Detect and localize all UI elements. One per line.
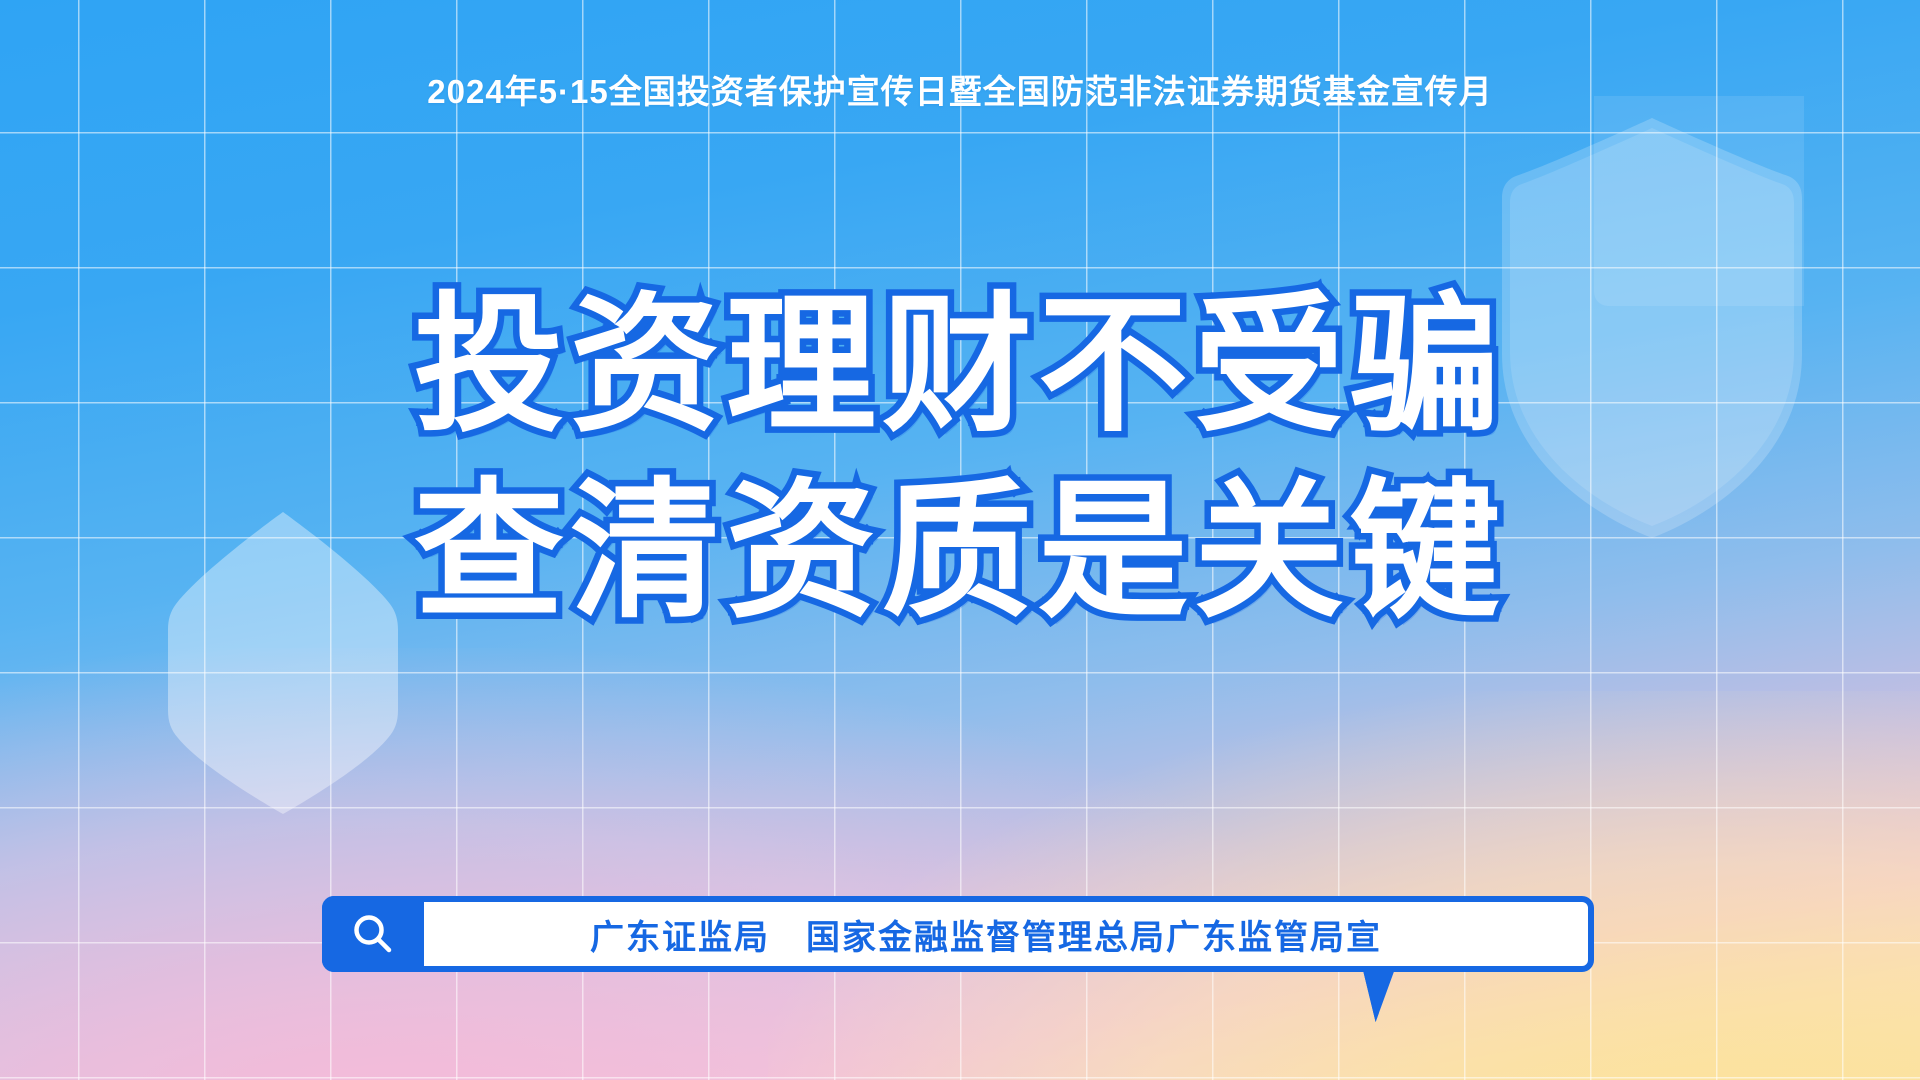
gradient-wash-pink bbox=[0, 648, 1440, 1080]
gradient-wash-yellow bbox=[768, 691, 1920, 1080]
headline-line-2: 查清资质是关键 bbox=[0, 458, 1920, 644]
speech-bubble-tail bbox=[1362, 966, 1396, 1022]
signature-text: 广东证监局 国家金融监督管理总局广东监管局宣 bbox=[328, 902, 1588, 966]
signature-bar: 广东证监局 国家金融监督管理总局广东监管局宣 bbox=[322, 896, 1594, 972]
signature-bar-wrapper: 广东证监局 国家金融监督管理总局广东监管局宣 bbox=[322, 896, 1594, 972]
headline-block: 投资理财不受骗 查清资质是关键 bbox=[0, 272, 1920, 644]
headline-line-1: 投资理财不受骗 bbox=[0, 272, 1920, 458]
search-icon[interactable] bbox=[322, 896, 424, 972]
page-title: 2024年5·15全国投资者保护宣传日暨全国防范非法证券期货基金宣传月 bbox=[0, 72, 1920, 112]
poster-canvas: 2024年5·15全国投资者保护宣传日暨全国防范非法证券期货基金宣传月 投资理财… bbox=[0, 0, 1920, 1080]
